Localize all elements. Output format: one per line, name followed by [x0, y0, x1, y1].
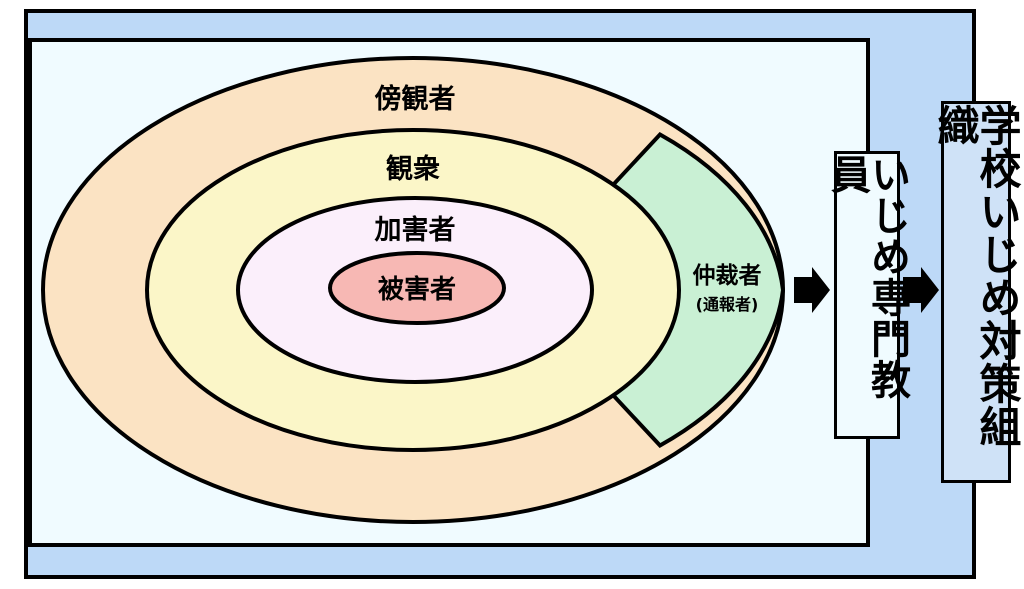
ring-label-bystander: 傍観者: [375, 83, 456, 115]
flow-box-school-countermeasure-org-label: 学校いじめ対策組織: [934, 104, 1018, 480]
flow-box-specialist-teacher-label: いじめ専門教員: [827, 154, 907, 436]
flow-box-specialist-teacher[interactable]: いじめ専門教員: [834, 151, 900, 439]
segment-sublabel-mediator: (通報者): [696, 295, 759, 314]
ring-label-audience: 観衆: [386, 153, 440, 185]
segment-label-mediator: 仲裁者: [693, 262, 762, 289]
ring-label-offender: 加害者: [375, 214, 456, 246]
flow-box-school-countermeasure-org[interactable]: 学校いじめ対策組織: [941, 101, 1011, 483]
ring-label-victim: 被害者: [378, 274, 456, 305]
diagram-canvas: 傍観者 観衆 加害者 被害者 仲裁者 (通報者) いじめ専門教員 学校いじめ対策…: [0, 0, 1024, 589]
